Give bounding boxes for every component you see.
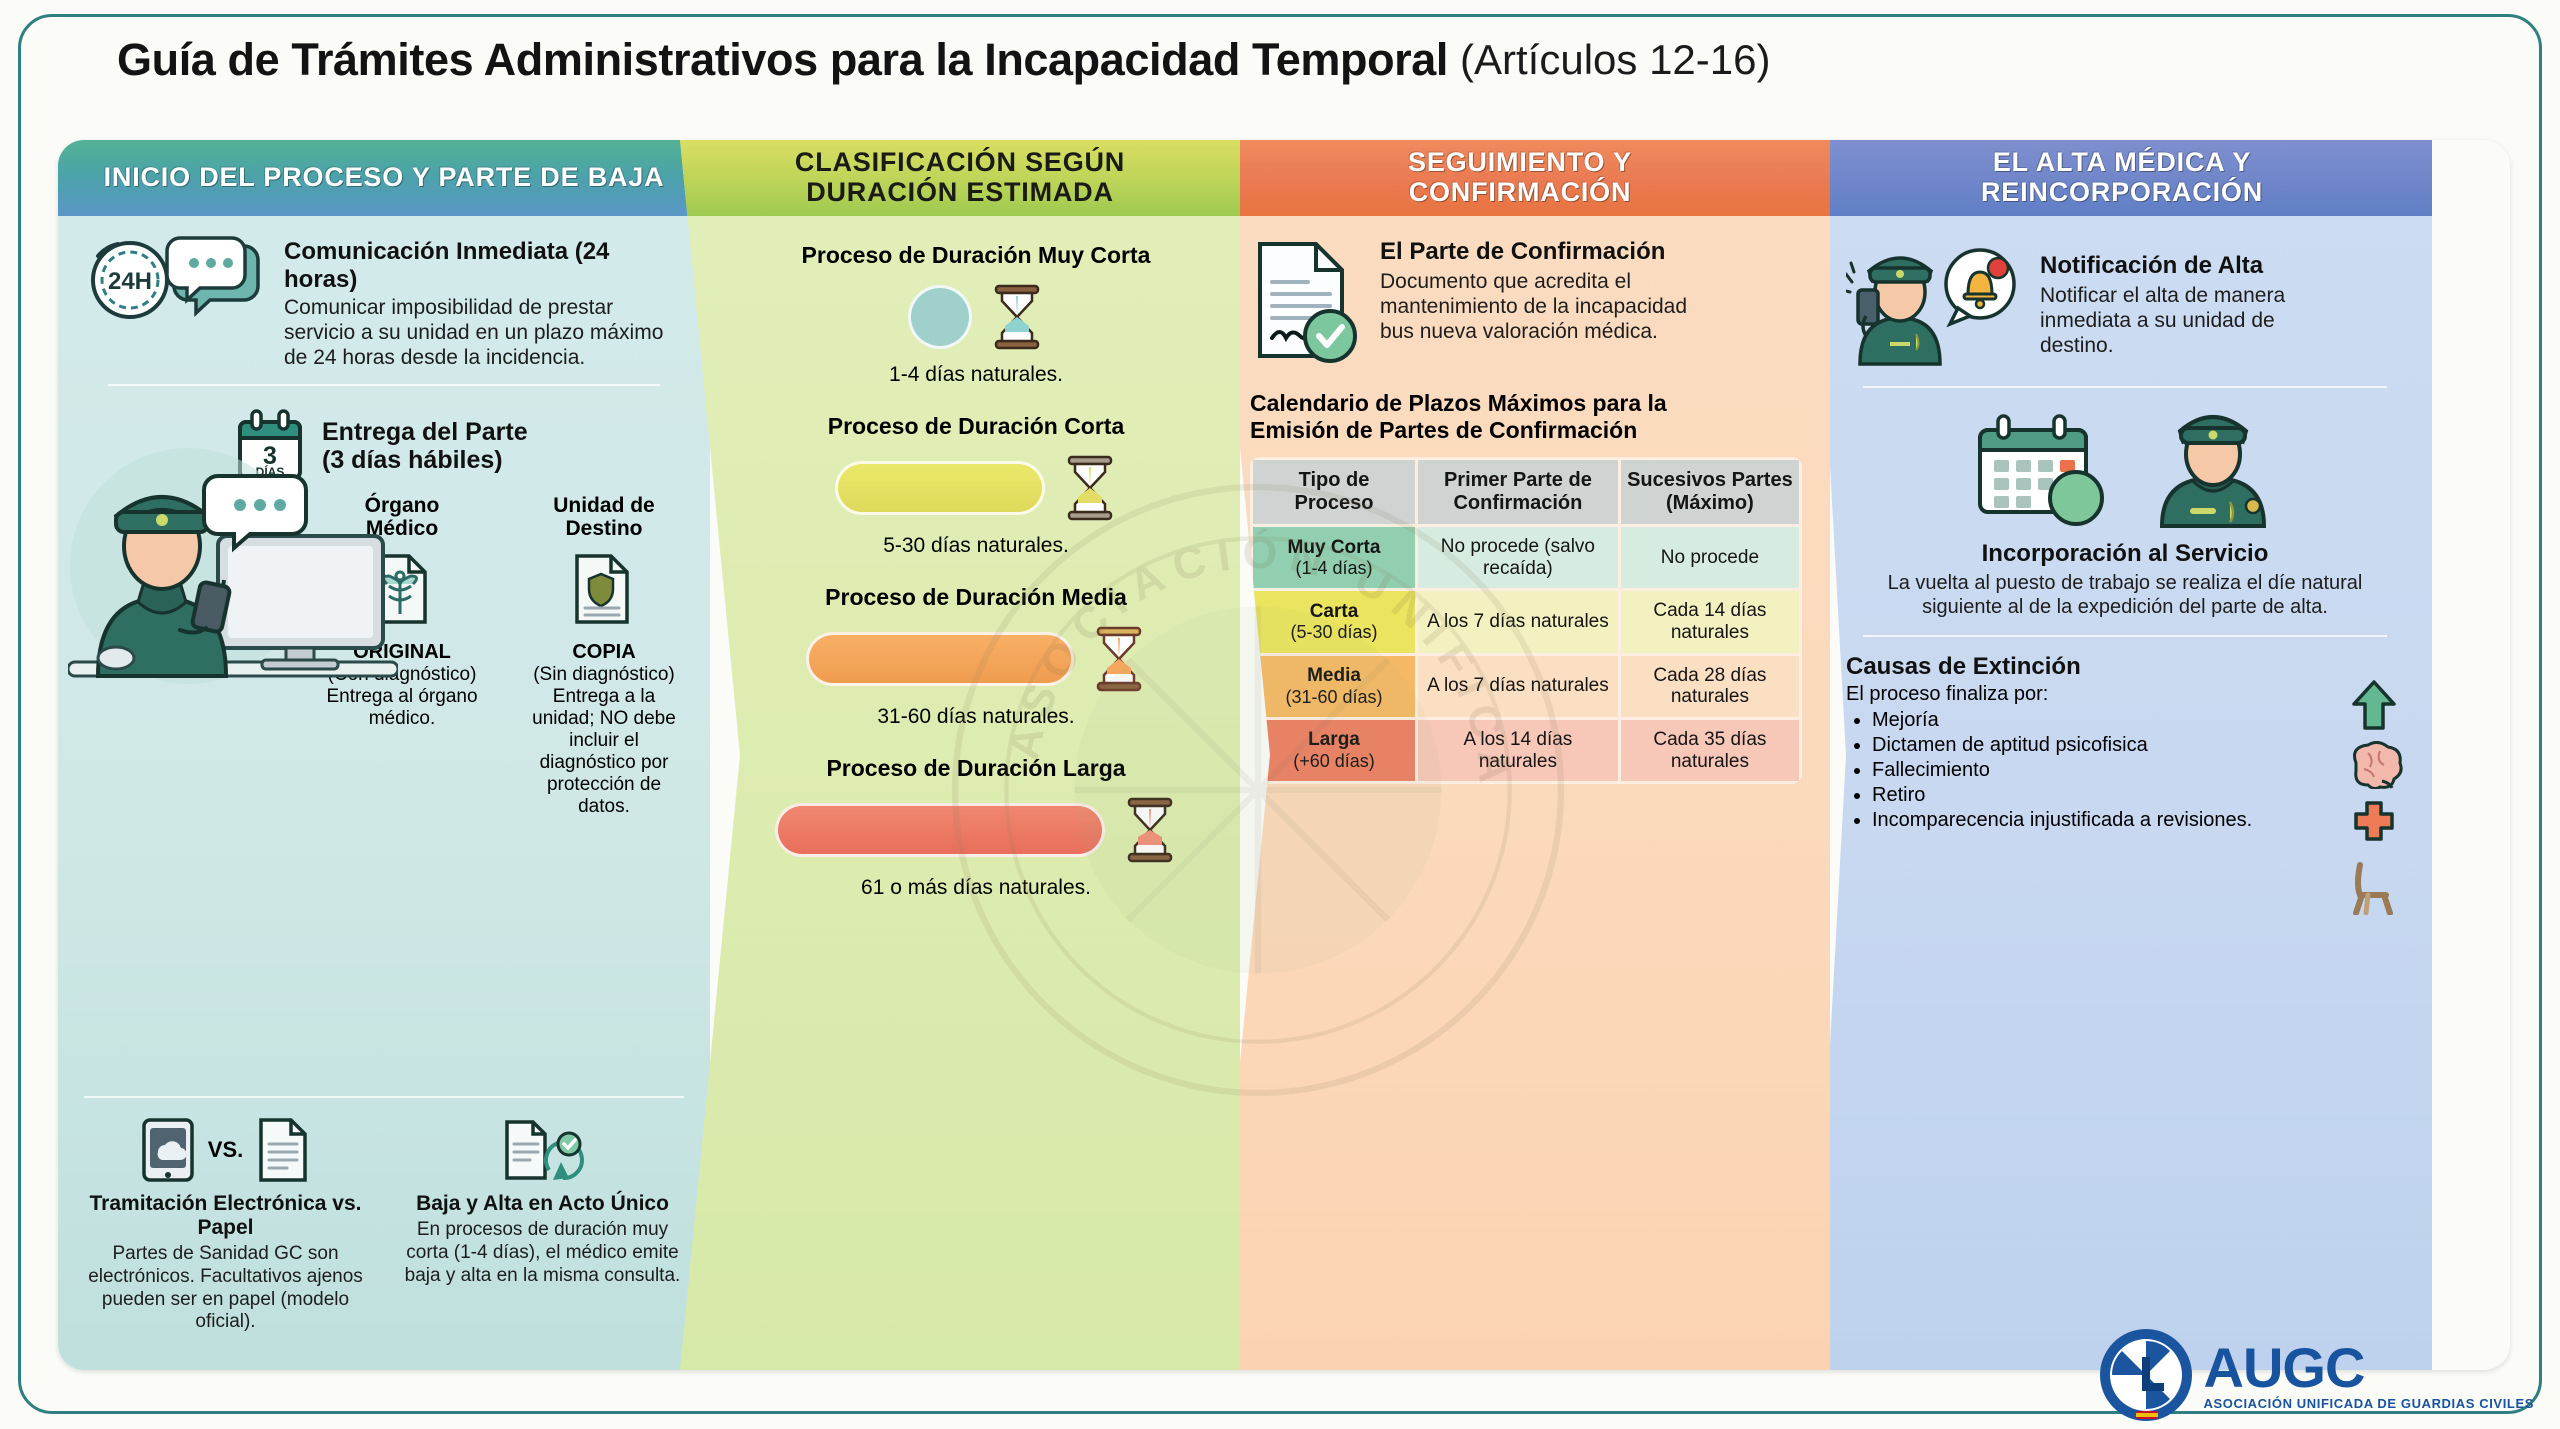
column-clasificacion: CLASIFICACIÓN SEGÚN DURACIÓN ESTIMADA Pr… <box>680 140 1240 1370</box>
calendar-icon <box>1972 410 2112 530</box>
comunicacion-body: Comunicar imposibilidad de prestar servi… <box>284 296 684 370</box>
list-item: Dictamen de aptitud psicofisica <box>1872 733 2334 757</box>
incorporacion-title: Incorporación al Servicio <box>1846 540 2404 568</box>
doc1-caption: COPIA <box>524 641 684 664</box>
column-seguimiento-header: SEGUIMIENTO Y CONFIRMACIÓN <box>1210 140 1830 216</box>
c3-header-line2: CONFIRMACIÓN <box>1409 177 1632 207</box>
duration-larga: Proceso de Duración Larga 61 o m <box>746 755 1206 900</box>
column-seguimiento: SEGUIMIENTO Y CONFIRMACIÓN <box>1210 140 1830 1370</box>
dur1-days: 5-30 días naturales. <box>746 534 1206 558</box>
table-header-row: Tipo de Proceso Primer Parte de Confirma… <box>1253 460 1799 524</box>
dur2-bar <box>806 632 1074 686</box>
notificacion-alta-block: Notificación de Alta Notificar el alta d… <box>1846 238 2404 368</box>
signed-document-check-icon <box>1250 238 1362 364</box>
row1-primer: A los 7 días naturales <box>1418 591 1618 652</box>
chat-bubble-icon <box>167 238 258 313</box>
footer-items: VS. Tramitación Electrónica vs. Papel <box>58 1116 710 1334</box>
dur3-bar <box>775 803 1105 857</box>
row3-tipo-rango: (+60 días) <box>1259 751 1409 772</box>
document-copia: Unidad de Destino COP <box>524 494 684 818</box>
footer1-title: Baja y Alta en Acto Único <box>399 1192 686 1216</box>
row1-tipo: Carta (5-30 días) <box>1253 591 1415 652</box>
shield-document-icon <box>567 546 641 632</box>
incorporacion-body: La vuelta al puesto de trabajo se realiz… <box>1846 571 2404 619</box>
tablet-cloud-icon <box>138 1116 198 1184</box>
c2-header-line1: CLASIFICACIÓN SEGÚN <box>795 147 1125 177</box>
c4-header-line2: REINCORPORACIÓN <box>1981 177 2263 207</box>
hourglass-icon <box>990 284 1044 350</box>
hourglass-icon <box>1123 797 1177 863</box>
dur0-title: Proceso de Duración Muy Corta <box>746 242 1206 269</box>
hourglass-icon <box>1092 626 1146 692</box>
row3-sucesivos: Cada 35 días naturales <box>1621 720 1799 781</box>
dur2-days: 31-60 días naturales. <box>746 705 1206 729</box>
c4-header-line1: EL ALTA MÉDICA Y <box>1993 147 2251 177</box>
row1-tipo-name: Carta <box>1310 601 1359 622</box>
dur1-bar <box>835 461 1045 515</box>
augc-tagline: ASOCIACIÓN UNIFICADA DE GUARDIAS CIVILES <box>2204 1397 2534 1410</box>
list-item: Retiro <box>1872 783 2334 807</box>
th-sucesivos: Sucesivos Partes (Máximo) <box>1621 460 1799 524</box>
column-alta: EL ALTA MÉDICA Y REINCORPORACIÓN <box>1812 140 2432 1370</box>
parte-confirmacion-block: El Parte de Confirmación Documento que a… <box>1250 238 1802 364</box>
two-documents-cycle-icon <box>495 1116 591 1184</box>
divider-1 <box>108 384 660 386</box>
table-row: Larga (+60 días) A los 14 días naturales… <box>1253 720 1799 781</box>
row0-tipo: Muy Corta (1-4 días) <box>1253 527 1415 588</box>
row0-tipo-name: Muy Corta <box>1288 537 1381 558</box>
parte-confirmacion-body: Documento que acredita el mantenimiento … <box>1380 269 1710 345</box>
brain-icon <box>2344 741 2404 789</box>
title-articles: (Artículos 12-16) <box>1460 36 1770 84</box>
paper-document-icon <box>253 1116 313 1184</box>
footer0-title: Tramitación Electrónica vs. Papel <box>82 1192 369 1240</box>
vs-label: VS. <box>208 1137 243 1163</box>
row3-tipo-name: Larga <box>1308 729 1360 750</box>
duration-muy-corta: Proceso de Duración Muy Corta 1- <box>746 242 1206 387</box>
causas-title: Causas de Extinción <box>1846 653 2334 681</box>
table-row: Media (31-60 días) A los 7 días naturale… <box>1253 656 1799 717</box>
list-item: Mejoría <box>1872 708 2334 732</box>
dur2-title: Proceso de Duración Media <box>746 584 1206 611</box>
duration-corta: Proceso de Duración Corta 5-30 d <box>746 413 1206 558</box>
table-row: Carta (5-30 días) A los 7 días naturales… <box>1253 591 1799 652</box>
augc-seal-icon <box>2098 1327 2194 1423</box>
comunicacion-inmediata-block: 24H Comunicación I <box>84 234 684 370</box>
th-tipo: Tipo de Proceso <box>1253 460 1415 524</box>
column-clasificacion-header: CLASIFICACIÓN SEGÚN DURACIÓN ESTIMADA <box>680 140 1240 216</box>
row3-tipo: Larga (+60 días) <box>1253 720 1415 781</box>
row3-primer: A los 14 días naturales <box>1418 720 1618 781</box>
officer-avatar-icon <box>2148 410 2278 530</box>
column-inicio-header: INICIO DEL PROCESO Y PARTE DE BAJA <box>58 140 710 216</box>
doc1-target-line2: Destino <box>565 517 642 540</box>
clock-chat-icons: 24H <box>84 234 270 326</box>
column-alta-header: EL ALTA MÉDICA Y REINCORPORACIÓN <box>1812 140 2432 216</box>
duration-media: Proceso de Duración Media 31-60 <box>746 584 1206 729</box>
officer-phone-icon <box>1846 258 1940 364</box>
causas-extincion-block: Causas de Extinción El proceso finaliza … <box>1846 653 2404 915</box>
comunicacion-title: Comunicación Inmediata (24 horas) <box>284 238 684 294</box>
monitor-icon <box>218 536 383 669</box>
dur3-days: 61 o más días naturales. <box>746 876 1206 900</box>
footer-item-tramitacion: VS. Tramitación Electrónica vs. Papel <box>82 1116 369 1334</box>
svg-text:24H: 24H <box>108 268 152 295</box>
phone-bell-notification-icon <box>1846 238 2026 368</box>
dur0-days: 1-4 días naturales. <box>746 363 1206 387</box>
dur3-title: Proceso de Duración Larga <box>746 755 1206 782</box>
tbl-title-line1: Calendario de Plazos Máximos para la <box>1250 390 1667 416</box>
infographic-page: Guía de Trámites Administrativos para la… <box>0 0 2560 1429</box>
row2-sucesivos: Cada 28 días naturales <box>1621 656 1799 717</box>
doc1-target-line1: Unidad de <box>553 494 655 517</box>
incorporacion-block: Incorporación al Servicio La vuelta al p… <box>1846 410 2404 619</box>
footer1-body: En procesos de duración muy corta (1-4 d… <box>399 1219 686 1287</box>
doc1-detail: Entrega a la unidad; NO debe incluir el … <box>524 686 684 818</box>
notificacion-body: Notificar el alta de manera inmediata a … <box>2040 283 2340 359</box>
column-inicio: INICIO DEL PROCESO Y PARTE DE BAJA 24H <box>58 140 710 1370</box>
bell-bubble-icon <box>1946 250 2014 324</box>
plazos-table-title: Calendario de Plazos Máximos para la Emi… <box>1250 390 1802 443</box>
row0-primer: No procede (salvo recaída) <box>1418 527 1618 588</box>
augc-logo: AUGC ASOCIACIÓN UNIFICADA DE GUARDIAS CI… <box>2098 1327 2534 1423</box>
clock-24h-icon: 24H <box>93 243 167 317</box>
title-main: Guía de Trámites Administrativos para la… <box>117 34 1448 86</box>
augc-acronym: AUGC <box>2204 1340 2534 1396</box>
footer0-body: Partes de Sanidad GC son electrónicos. F… <box>82 1243 369 1334</box>
divider-2 <box>84 1096 684 1098</box>
dur0-bar <box>908 285 972 349</box>
list-item: Incomparecencia injustificada a revision… <box>1872 808 2334 832</box>
table-row: Muy Corta (1-4 días) No procede (salvo r… <box>1253 527 1799 588</box>
officer-computer-illustration <box>68 416 398 716</box>
row0-tipo-rango: (1-4 días) <box>1259 558 1409 579</box>
panel-container: INICIO DEL PROCESO Y PARTE DE BAJA 24H <box>58 140 2510 1370</box>
page-title: Guía de Trámites Administrativos para la… <box>95 28 1792 92</box>
doc1-sub: (Sin diagnóstico) <box>524 664 684 686</box>
dur1-title: Proceso de Duración Corta <box>746 413 1206 440</box>
th-primer: Primer Parte de Confirmación <box>1418 460 1618 524</box>
footer-item-acto-unico: Baja y Alta en Acto Único En procesos de… <box>399 1116 686 1334</box>
row2-tipo: Media (31-60 días) <box>1253 656 1415 717</box>
chair-icon <box>2346 859 2402 915</box>
row2-tipo-name: Media <box>1307 665 1361 686</box>
row2-primer: A los 7 días naturales <box>1418 656 1618 717</box>
row0-sucesivos: No procede <box>1621 527 1799 588</box>
c2-header-line2: DURACIÓN ESTIMADA <box>806 177 1114 207</box>
notificacion-title: Notificación de Alta <box>2040 252 2340 280</box>
tbl-title-line2: Emisión de Partes de Confirmación <box>1250 417 1637 443</box>
row1-tipo-rango: (5-30 días) <box>1259 622 1409 643</box>
red-cross-icon <box>2348 799 2400 849</box>
causas-lead: El proceso finaliza por: <box>1846 683 2334 706</box>
row1-sucesivos: Cada 14 días naturales <box>1621 591 1799 652</box>
up-arrow-icon <box>2347 679 2401 731</box>
list-item: Fallecimiento <box>1872 758 2334 782</box>
parte-confirmacion-title: El Parte de Confirmación <box>1380 238 1710 266</box>
c3-header-line1: SEGUIMIENTO Y <box>1408 147 1632 177</box>
divider-4 <box>1863 635 2388 637</box>
row2-tipo-rango: (31-60 días) <box>1259 687 1409 708</box>
hourglass-icon <box>1063 455 1117 521</box>
plazos-table: Tipo de Proceso Primer Parte de Confirma… <box>1250 457 1802 784</box>
divider-3 <box>1863 386 2388 388</box>
